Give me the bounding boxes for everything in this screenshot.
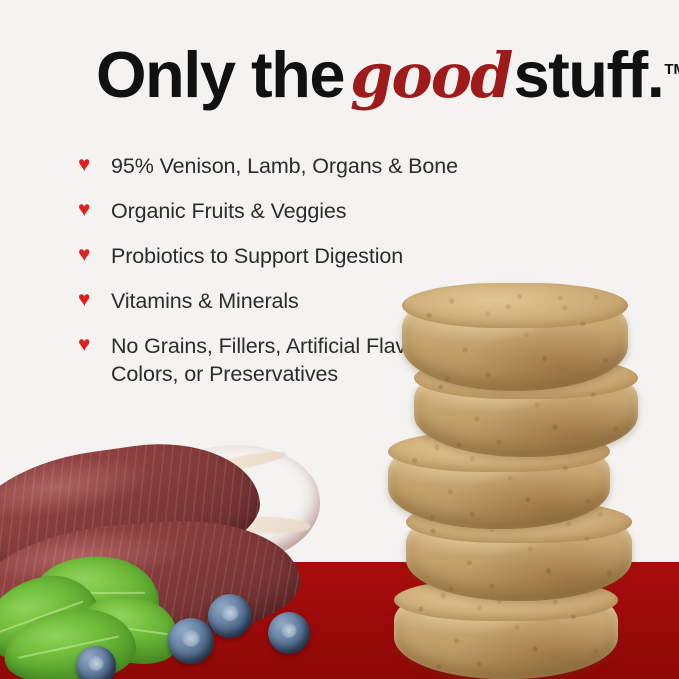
list-item: ♥ Organic Fruits & Veggies [78, 197, 498, 225]
blueberry [76, 646, 116, 679]
blueberry [268, 612, 310, 654]
trademark-symbol: TM [664, 61, 679, 78]
headline-part-one: Only the [96, 42, 344, 107]
list-item-label: Organic Fruits & Veggies [111, 197, 498, 225]
heart-icon: ♥ [78, 242, 100, 268]
heart-icon: ♥ [78, 152, 100, 178]
heart-icon: ♥ [78, 332, 100, 358]
patty [402, 283, 628, 391]
blueberry [168, 618, 214, 664]
list-item: ♥ Probiotics to Support Digestion [78, 242, 498, 270]
list-item-label: Probiotics to Support Digestion [111, 242, 498, 270]
headline-script-word: good [350, 39, 511, 112]
page-title: Only thegoodstuff.TM [96, 42, 679, 107]
heart-icon: ♥ [78, 197, 100, 223]
list-item-label: 95% Venison, Lamb, Organs & Bone [111, 152, 498, 180]
blueberry [208, 594, 252, 638]
product-feature-card: Only thegoodstuff.TM ♥ 95% Venison, Lamb… [0, 0, 679, 679]
headline-part-two: stuff. [513, 42, 663, 107]
freeze-dried-patty-stack-image [388, 283, 638, 679]
list-item: ♥ 95% Venison, Lamb, Organs & Bone [78, 152, 498, 180]
heart-icon: ♥ [78, 287, 100, 313]
